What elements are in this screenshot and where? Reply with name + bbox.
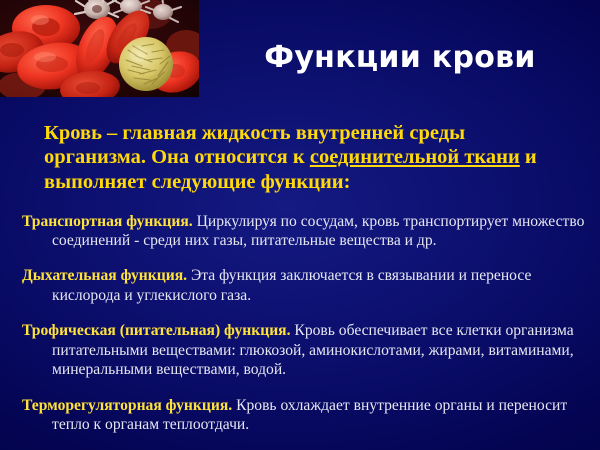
function-item-respiratory: Дыхательная функция. Эта функция заключа… [22,266,588,305]
blood-cells-illustration [0,0,199,97]
presentation-slide: Функции крови Кровь – главная жидкость в… [0,0,600,450]
function-lead: Трофическая (питательная) функция. [22,322,291,339]
blood-cells-image [0,0,199,97]
blood-functions-list: Транспортная функция. Циркулируя по сосу… [22,196,588,436]
function-item-thermoregulatory: Терморегуляторная функция. Кровь охлажда… [22,396,588,435]
function-lead: Транспортная функция. [22,213,193,230]
function-item-trophic: Трофическая (питательная) функция. Кровь… [22,321,588,380]
intro-paragraph: Кровь – главная жидкость внутренней сред… [44,121,572,195]
slide-title: Функции крови [210,39,590,77]
function-lead: Дыхательная функция. [22,267,187,284]
function-lead: Терморегуляторная функция. [22,397,232,414]
leukocyte [119,37,173,91]
function-item-transport: Транспортная функция. Циркулируя по сосу… [22,212,588,251]
intro-underlined-term: соединительной ткани [310,146,520,168]
intro-colon: : [344,171,351,193]
